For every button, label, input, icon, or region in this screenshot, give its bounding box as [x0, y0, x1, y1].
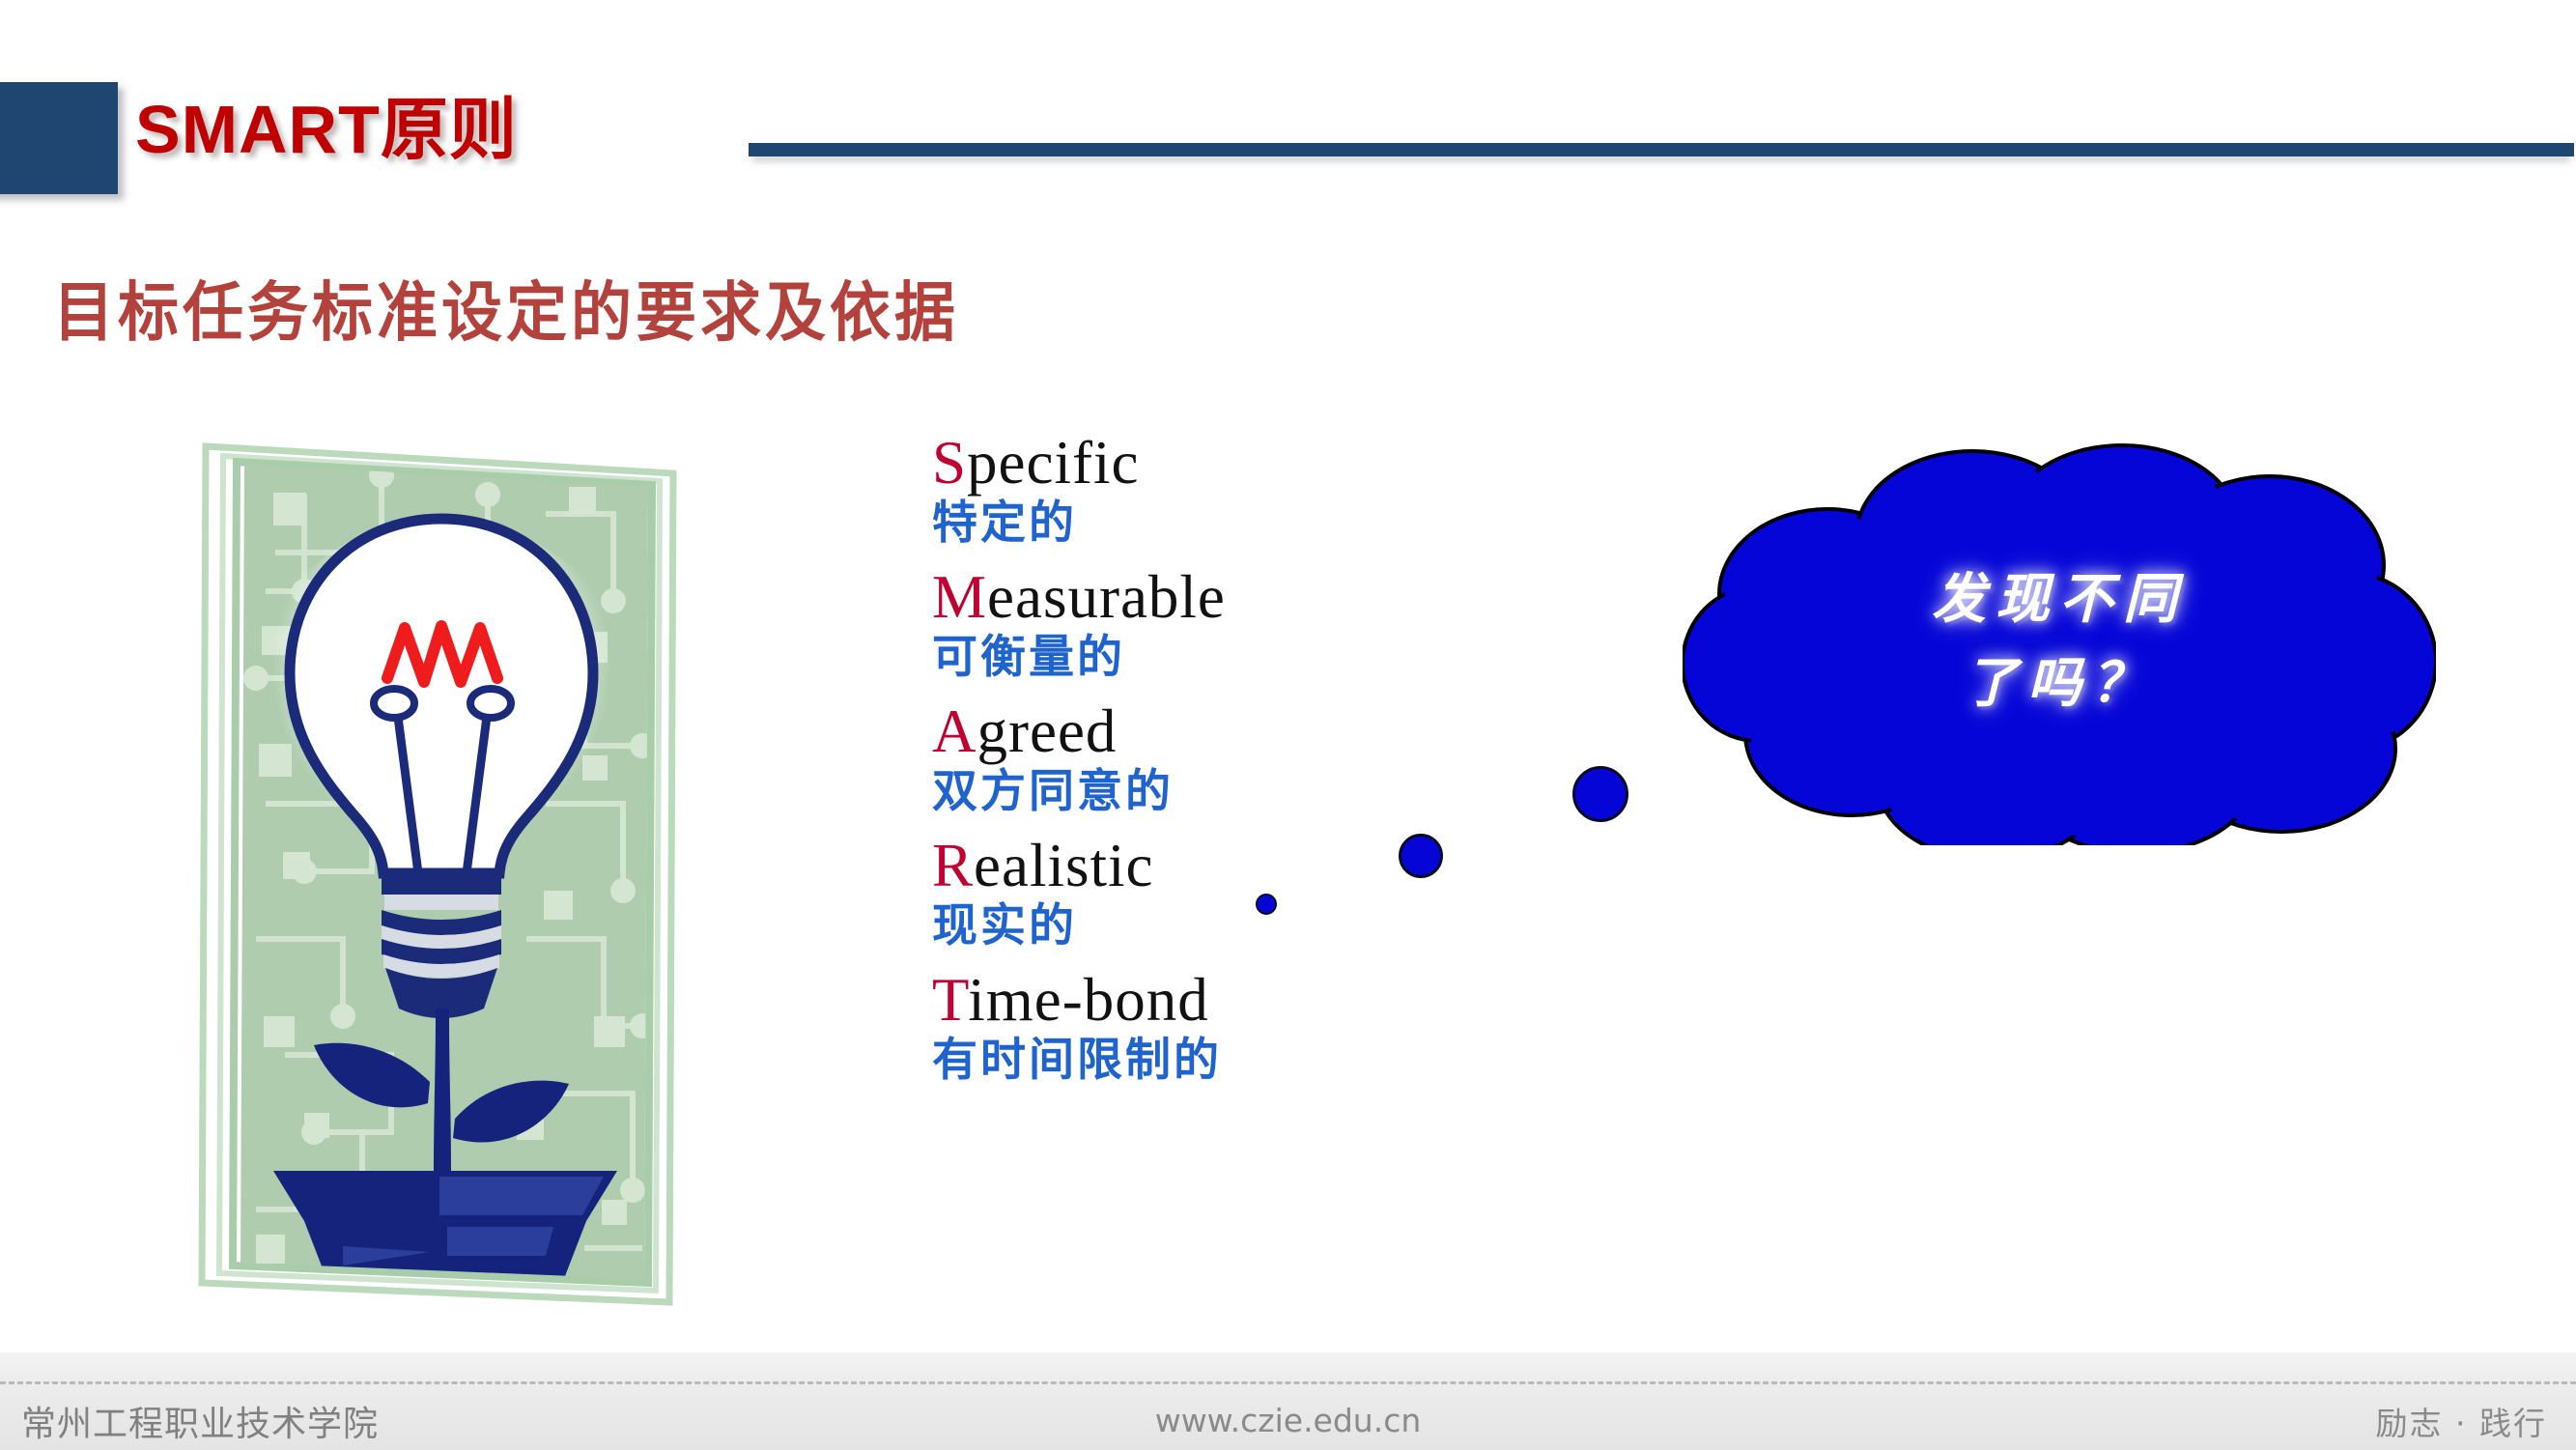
smart-initial-2: A [932, 697, 977, 765]
footer-website[interactable]: www.czie.edu.cn [0, 1402, 2576, 1439]
smart-principles-list: Specific 特定的 Measurable 可衡量的 Agreed 双方同意… [932, 433, 1434, 1104]
header-accent-square [0, 82, 118, 194]
smart-item-chinese-2: 双方同意的 [932, 769, 1434, 814]
footer-motto: 励志 · 践行 [2376, 1398, 2547, 1444]
smart-item-english-3: Realistic [932, 836, 1434, 896]
smart-rest-3: ealistic [974, 832, 1153, 899]
slide-footer: 常州工程职业技术学院 www.czie.edu.cn 励志 · 践行 [0, 1352, 2576, 1450]
smart-initial-3: R [932, 832, 974, 899]
smart-rest-4: ime-bond [968, 966, 1208, 1034]
lightbulb-plant-illustration [198, 437, 681, 1311]
smart-initial-1: M [932, 563, 987, 631]
thought-dot-small [1256, 894, 1277, 915]
header-divider-rule [749, 143, 2574, 156]
smart-item-chinese-3: 现实的 [932, 903, 1434, 949]
smart-rest-2: greed [977, 697, 1118, 765]
smart-item-english-0: Specific [932, 433, 1434, 494]
smart-item-chinese-4: 有时间限制的 [932, 1038, 1434, 1083]
smart-item-chinese-1: 可衡量的 [932, 635, 1434, 680]
section-subtitle: 目标任务标准设定的要求及依据 [53, 261, 959, 354]
thought-cloud-shape [1683, 440, 2436, 845]
smart-item-english-4: Time-bond [932, 970, 1434, 1031]
slide-canvas: SMART原则 目标任务标准设定的要求及依据 [0, 0, 2576, 1450]
thought-dot-large [1572, 766, 1628, 822]
smart-item-english-1: Measurable [932, 567, 1434, 628]
smart-rest-0: pecific [967, 429, 1139, 497]
footer-divider [0, 1381, 2576, 1384]
smart-item-english-2: Agreed [932, 701, 1434, 762]
smart-initial-0: S [932, 429, 967, 497]
thought-dot-medium [1399, 834, 1443, 878]
page-title: SMART原则 [135, 75, 518, 173]
smart-initial-4: T [932, 966, 968, 1034]
smart-item-chinese-0: 特定的 [932, 500, 1434, 546]
smart-rest-1: easurable [987, 563, 1226, 631]
